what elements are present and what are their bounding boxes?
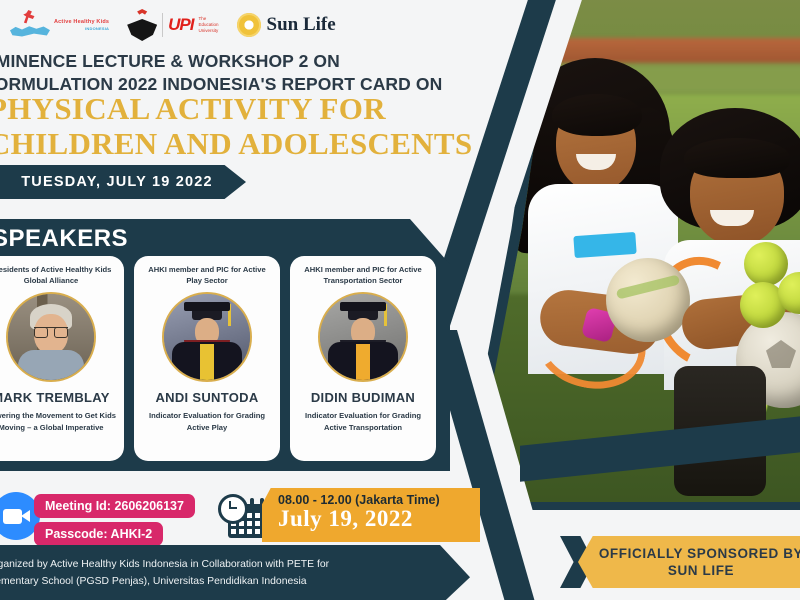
schedule-box: 08.00 - 12.00 (Jakarta Time) July 19, 20… xyxy=(262,488,480,542)
ahk-logo-line1: Active Healthy Kids xyxy=(54,19,109,26)
speaker-card-list: Presidents of Active Healthy Kids Global… xyxy=(0,256,436,461)
event-kicker-line1: EMINENCE LECTURE & WORKSHOP 2 ON xyxy=(0,50,484,73)
schedule-time: 08.00 - 12.00 (Jakarta Time) xyxy=(278,493,480,507)
speaker-name: DIDIN BUDIMAN xyxy=(311,390,415,405)
date-banner: TUESDAY, JULY 19 2022 xyxy=(0,165,246,199)
speaker-topic: Powering the Movement to Get Kids Moving… xyxy=(0,410,117,434)
organizer-line1: Organized by Active Healthy Kids Indones… xyxy=(0,556,406,573)
speaker-card: AHKI member and PIC for Active Play Sect… xyxy=(134,256,280,461)
event-kicker: EMINENCE LECTURE & WORKSHOP 2 ON FORMULA… xyxy=(0,50,484,96)
date-banner-text: TUESDAY, JULY 19 2022 xyxy=(11,174,213,190)
upi-tagline-3: University xyxy=(199,28,219,34)
speaker-topic: Indicator Evaluation for Grading Active … xyxy=(297,410,429,434)
sun-life-logo: Sun Life xyxy=(237,13,336,37)
upi-logo: UPI The Education University xyxy=(127,9,218,41)
sun-icon xyxy=(237,13,261,37)
sponsor-line2: SUN LIFE xyxy=(668,563,734,578)
page-title-line1: PHYSICAL ACTIVITY FOR xyxy=(0,92,508,127)
ahk-logo-line2: INDONESIA xyxy=(54,26,109,31)
sun-life-wordmark: Sun Life xyxy=(267,14,336,36)
speaker-avatar xyxy=(162,292,252,382)
organizer-text: Organized by Active Healthy Kids Indones… xyxy=(0,556,406,590)
upi-crest-icon xyxy=(127,9,157,41)
speaker-role: AHKI member and PIC for Active Transport… xyxy=(297,264,429,287)
speaker-avatar xyxy=(6,292,96,382)
page-title-line2: CHILDREN AND ADOLESCENTS xyxy=(0,127,508,162)
sponsor-line1: OFFICIALLY SPONSORED BY xyxy=(599,546,800,561)
sponsor-banner: OFFICIALLY SPONSORED BY SUN LIFE xyxy=(578,536,800,588)
upi-wordmark: UPI xyxy=(168,15,193,35)
active-healthy-kids-indonesia-logo: Active Healthy Kids INDONESIA xyxy=(10,10,109,40)
speaker-name: MARK TREMBLAY xyxy=(0,390,110,405)
photo-volleyball xyxy=(606,258,690,342)
runner-map-icon xyxy=(10,10,50,40)
speaker-card: AHKI member and PIC for Active Transport… xyxy=(290,256,436,461)
logo-row: Active Healthy Kids INDONESIA UPI The Ed… xyxy=(10,4,336,46)
speaker-name: ANDI SUNTODA xyxy=(155,390,258,405)
speakers-heading: SPEAKERS xyxy=(0,225,128,253)
speaker-role: Presidents of Active Healthy Kids Global… xyxy=(0,264,117,287)
speaker-card: Presidents of Active Healthy Kids Global… xyxy=(0,256,124,461)
meeting-id-badge: Meeting Id: 2606206137 xyxy=(34,494,195,518)
organizer-line2: Elementary School (PGSD Penjas), Univers… xyxy=(0,573,406,590)
event-poster: Active Healthy Kids INDONESIA UPI The Ed… xyxy=(0,0,800,600)
page-title: PHYSICAL ACTIVITY FOR CHILDREN AND ADOLE… xyxy=(0,92,508,161)
speaker-role: AHKI member and PIC for Active Play Sect… xyxy=(141,264,273,287)
schedule-date: July 19, 2022 xyxy=(278,507,480,531)
speaker-avatar xyxy=(318,292,408,382)
speaker-topic: Indicator Evaluation for Grading Active … xyxy=(141,410,273,434)
passcode-badge: Passcode: AHKI-2 xyxy=(34,522,163,546)
